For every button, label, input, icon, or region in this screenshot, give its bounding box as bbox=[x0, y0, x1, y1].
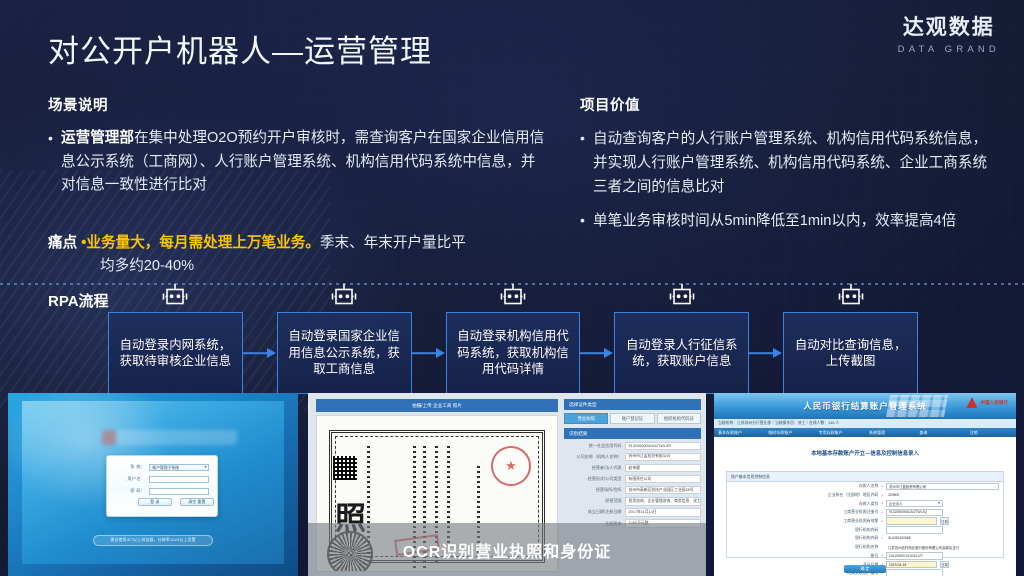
ocr-field-value[interactable]: 有限责任公司 bbox=[625, 475, 701, 484]
flow-node-3-label: 自动登录机构信用代码系统，获取机构信用代码详情 bbox=[446, 312, 581, 394]
pboc-logo: 中国人民银行 bbox=[966, 397, 1008, 408]
login-password-input[interactable] bbox=[149, 488, 208, 495]
login-desktop: 系 统： 帐户管理子系统 用户名： 密 码： 登 录 清空 重置 bbox=[22, 401, 284, 564]
login-row-username: 用户名： bbox=[116, 476, 209, 483]
pboc-form-row: 工商营业执照注册号*91320500MA1N2TWL3Q bbox=[727, 508, 1003, 517]
brand-logo-en: DATA GRAND bbox=[898, 44, 1000, 55]
ocr-field-value[interactable]: 赵伟健 bbox=[625, 464, 701, 473]
pboc-field-input[interactable]: 苏州市江蓝投资有限公司 bbox=[886, 483, 999, 491]
keyboard-graphic bbox=[886, 395, 948, 417]
ocr-field-value[interactable]: 91320000MA1N2TWL3R bbox=[625, 442, 701, 451]
pboc-emblem-icon bbox=[966, 397, 977, 408]
pain-point-line2: 均多约20-40% bbox=[100, 255, 568, 278]
login-username-input[interactable] bbox=[149, 476, 208, 483]
login-banner bbox=[116, 430, 237, 445]
pboc-field-input[interactable]: 91320500MA1N2TWL3Q bbox=[886, 509, 943, 517]
pboc-field-input[interactable] bbox=[886, 526, 943, 534]
scene-bullet-rest: 在集中处理O2O预约开户审核时，需查询客户在国家企业信用信息公示系统（工商网）、… bbox=[61, 130, 544, 193]
pboc-field-readonly: 320500 bbox=[886, 491, 999, 499]
flow-node-5[interactable]: 自动对比查询信息，上传截图 bbox=[783, 312, 918, 394]
pboc-form-row: 账号*10122900101001012T bbox=[727, 552, 1003, 561]
required-marker: * bbox=[881, 501, 883, 506]
flow-arrow-1 bbox=[243, 312, 277, 394]
ocr-field-row: 经营场所/住所苏州市高新区科技产业园区工业园28号 bbox=[564, 486, 701, 495]
flow-node-4[interactable]: 自动登录人行征信系统，获取账户信息 bbox=[614, 312, 749, 394]
official-seal-icon bbox=[491, 446, 531, 486]
ocr-topbar: 拍摄/上传 企业工商 照片 bbox=[316, 399, 558, 412]
login-label-password: 密 码： bbox=[116, 488, 146, 494]
required-marker: * bbox=[881, 553, 883, 558]
flow-node-2[interactable]: 自动登录国家企业信用信息公示系统，获取工商信息 bbox=[277, 312, 412, 394]
flow-node-1[interactable]: 自动登录内网系统，获取待审核企业信息 bbox=[108, 312, 243, 394]
slide-root: 达观数据 DATA GRAND 对公开户机器人—运营管理 场景说明 运营管理部在… bbox=[0, 0, 1024, 576]
ocr-field-label: 公司名称（机构人名称） bbox=[564, 454, 622, 460]
pboc-form-row: 存款人名称*苏州市江蓝投资有限公司 bbox=[727, 482, 1003, 491]
scene-heading: 场景说明 bbox=[48, 94, 548, 115]
required-marker: * bbox=[881, 510, 883, 515]
login-row-password: 密 码： bbox=[116, 488, 209, 495]
flow-node-5-label: 自动对比查询信息，上传截图 bbox=[783, 312, 918, 394]
pboc-statusbar: 当前机构：江苏苏州分行营业部｜当前操作员：苏工｜在线人数：146 人 bbox=[714, 419, 1016, 428]
scene-section: 场景说明 运营管理部在集中处理O2O预约开户审核时，需查询客户在国家企业信用信息… bbox=[48, 94, 548, 198]
robot-icon bbox=[498, 283, 528, 314]
required-marker: * bbox=[881, 484, 883, 489]
ocr-tab-license[interactable]: 营业执照 bbox=[564, 413, 608, 424]
scene-bullet: 运营管理部在集中处理O2O预约开户审核时，需查询客户在国家企业信用信息公示系统（… bbox=[48, 127, 548, 198]
login-footer-note: 建议使用IE7以上浏览器，分辨率1024以上设置 bbox=[93, 535, 214, 546]
ocr-tab-orgcode[interactable]: 组织机构代码证 bbox=[657, 413, 701, 424]
robot-icon bbox=[160, 283, 190, 314]
pboc-form-group-title: 账户基本信息控制信息 bbox=[727, 472, 1003, 482]
login-reset-button[interactable]: 清空 重置 bbox=[180, 498, 214, 506]
ocr-field-value[interactable]: 投资咨询、企业管理咨询、商务信息、化工产品无危险化学品、材料研发、五金交电 bbox=[625, 497, 701, 506]
pboc-form-row: 存款人类别*企业法人 bbox=[727, 499, 1003, 508]
pboc-submit-button[interactable]: 确 定 bbox=[844, 565, 886, 573]
pboc-bank-name: 中国人民银行 bbox=[980, 400, 1008, 406]
ocr-field-label: 经营者/法人代表 bbox=[564, 465, 622, 471]
login-dialog: 系 统： 帐户管理子系统 用户名： 密 码： 登 录 清空 重置 bbox=[106, 455, 219, 517]
flow-node-3[interactable]: 自动登录机构信用代码系统，获取机构信用代码详情 bbox=[446, 312, 581, 394]
pboc-form-row: 银行机构名称*江苏苏州农村商业银行股份有限公司高新区支行 bbox=[727, 543, 1003, 552]
pboc-nav-item[interactable]: 系统管理 bbox=[865, 428, 915, 437]
pboc-nav-item[interactable]: 基本存款账户 bbox=[714, 428, 764, 437]
flow-node-4-label: 自动登录人行征信系统，获取账户信息 bbox=[614, 312, 749, 394]
pain-point-highlight: •业务量大，每月需处理上万笔业务。 bbox=[81, 235, 320, 251]
login-label-system: 系 统： bbox=[116, 464, 146, 470]
login-system-value: 帐户管理子系统 bbox=[152, 466, 179, 471]
ocr-field-value[interactable]: 2017年11月14日 bbox=[625, 508, 701, 517]
ocr-field-row: 经营形式/公司类型有限责任公司 bbox=[564, 475, 701, 484]
pboc-nav-item[interactable]: 临时存款账户 bbox=[764, 428, 814, 437]
pboc-field-label: 工商营业执照有效期 bbox=[731, 518, 878, 524]
required-marker: * bbox=[881, 519, 883, 524]
pain-point-label: 痛点 bbox=[48, 235, 77, 251]
login-buttons: 登 录 清空 重置 bbox=[138, 498, 214, 506]
ocr-field-label: 经营范围 bbox=[564, 498, 622, 504]
pboc-body: 本地基本存款账户开立—信息及控制信息录入 账户基本信息控制信息 存款人名称*苏州… bbox=[714, 437, 1016, 576]
pain-point-rest: 季末、年末开户量比平 bbox=[320, 235, 466, 251]
ocr-panel-title: 选择证件类型 bbox=[564, 399, 701, 410]
robot-icon bbox=[836, 283, 866, 314]
ocr-field-label: 成立日期/注册日期 bbox=[564, 509, 622, 515]
ocr-result-title: 识别结果 bbox=[564, 428, 701, 439]
ocr-field-row: 统一社会信用代码91320000MA1N2TWL3R bbox=[564, 442, 701, 451]
login-label-username: 用户名： bbox=[116, 476, 146, 482]
pboc-header: 人民币银行结算账户管理系统 中国人民银行 bbox=[714, 393, 1016, 419]
pboc-form: 账户基本信息控制信息 存款人名称*苏州市江蓝投资有限公司 企业所在（注册地）地区… bbox=[726, 471, 1004, 558]
ocr-field-value[interactable]: 苏州市高新区科技产业园区工业园28号 bbox=[625, 486, 701, 495]
pboc-field-label: 账号 bbox=[731, 553, 878, 559]
pboc-field-label: 存款人名称 bbox=[731, 483, 878, 489]
qr-code-icon bbox=[333, 456, 357, 480]
robot-icon bbox=[667, 283, 697, 314]
pboc-field-date[interactable]: 2019-04-18 bbox=[886, 561, 937, 569]
pboc-field-input[interactable] bbox=[886, 569, 943, 576]
pboc-form-row: 企业所在（注册地）地区内码*320500 bbox=[727, 491, 1003, 500]
required-marker: * bbox=[881, 493, 883, 498]
screenshot-caption: OCR识别营业执照和身份证 bbox=[308, 523, 706, 576]
pboc-nav-item[interactable]: 注销 bbox=[966, 428, 1016, 437]
flow-node-2-label: 自动登录国家企业信用信息公示系统，获取工商信息 bbox=[277, 312, 412, 394]
required-marker: * bbox=[881, 536, 883, 541]
pboc-field-input[interactable]: 10122900101001012T bbox=[886, 552, 943, 560]
ocr-field-label: 经营形式/公司类型 bbox=[564, 476, 622, 482]
value-section: 项目价值 自动查询客户的人行账户管理系统、机构信用代码系统信息，并实现人行账户管… bbox=[580, 94, 1000, 233]
brand-logo-cn: 达观数据 bbox=[898, 16, 1000, 39]
value-bullet-1: 自动查询客户的人行账户管理系统、机构信用代码系统信息，并实现人行账户管理系统、机… bbox=[580, 127, 1000, 200]
screenshot-pboc-system: 人民币银行结算账户管理系统 中国人民银行 当前机构：江苏苏州分行营业部｜当前操作… bbox=[714, 393, 1016, 576]
calendar-icon[interactable]: 日期 bbox=[940, 517, 949, 525]
ocr-field-label: 统一社会信用代码 bbox=[564, 443, 622, 449]
ocr-field-value[interactable]: 苏州市江蓝投资有限公司 bbox=[625, 453, 701, 462]
login-system-select[interactable]: 帐户管理子系统 bbox=[149, 464, 208, 471]
page-title: 对公开户机器人—运营管理 bbox=[48, 26, 432, 71]
pboc-field-label: 企业所在（注册地）地区内码 bbox=[731, 492, 878, 498]
flow-arrow-2 bbox=[412, 312, 446, 394]
ocr-field-row: 经营范围投资咨询、企业管理咨询、商务信息、化工产品无危险化学品、材料研发、五金交… bbox=[564, 497, 701, 506]
pboc-field-label: 存款人类别 bbox=[731, 501, 878, 507]
brand-logo: 达观数据 DATA GRAND bbox=[898, 16, 1000, 55]
ocr-tabs: 营业执照 账户登记证 组织机构代码证 bbox=[564, 413, 701, 424]
ocr-field-row: 公司名称（机构人名称）苏州市江蓝投资有限公司 bbox=[564, 453, 701, 462]
ocr-tab-account[interactable]: 账户登记证 bbox=[610, 413, 654, 424]
pboc-form-title: 本地基本存款账户开立—信息及控制信息录入 bbox=[714, 449, 1016, 457]
pboc-nav-item[interactable]: 专用存款账户 bbox=[815, 428, 865, 437]
flow-arrow-4 bbox=[749, 312, 783, 394]
pboc-form-row: 银行机构内码* bbox=[727, 525, 1003, 534]
pboc-field-select[interactable]: 企业法人 bbox=[886, 500, 943, 508]
pboc-form-row: 工商营业执照有效期*日期 bbox=[727, 517, 1003, 526]
pboc-field-date[interactable] bbox=[886, 517, 937, 525]
pboc-navbar: 基本存款账户 临时存款账户 专用存款账户 系统管理 查询 注销 bbox=[714, 428, 1016, 437]
pboc-field-readonly: 314032300088 bbox=[886, 535, 999, 543]
pboc-nav-item[interactable]: 查询 bbox=[915, 428, 965, 437]
flow-arrow-3 bbox=[580, 312, 614, 394]
pboc-field-label: 银行机构名称 bbox=[731, 544, 878, 550]
login-row-system: 系 统： 帐户管理子系统 bbox=[116, 464, 209, 471]
ocr-field-row: 成立日期/注册日期2017年11月14日 bbox=[564, 508, 701, 517]
screenshot-login-system: 系 统： 帐户管理子系统 用户名： 密 码： 登 录 清空 重置 bbox=[8, 393, 298, 576]
login-submit-button[interactable]: 登 录 bbox=[138, 498, 172, 506]
ocr-field-row: 经营者/法人代表赵伟健 bbox=[564, 464, 701, 473]
pboc-field-label: 工商营业执照注册号 bbox=[731, 509, 878, 515]
pboc-form-row: 银行机构内码*314032300088 bbox=[727, 534, 1003, 543]
pain-point-section: 痛点 •业务量大，每月需处理上万笔业务。季末、年末开户量比平 均多约20-40% bbox=[48, 232, 568, 279]
value-bullet-2: 单笔业务审核时间从5min降低至1min以内，效率提高4倍 bbox=[580, 209, 1000, 233]
calendar-icon[interactable]: 日期 bbox=[940, 561, 949, 569]
ocr-field-label: 经营场所/住所 bbox=[564, 487, 622, 493]
scene-bullet-bold: 运营管理部 bbox=[61, 130, 134, 146]
robot-icon bbox=[329, 283, 359, 314]
value-heading: 项目价值 bbox=[580, 94, 1000, 115]
rpa-flow-diagram: 自动登录内网系统，获取待审核企业信息 自动登录国家企业信用信息公示系统，获取工商… bbox=[108, 312, 918, 394]
pboc-field-readonly: 江苏苏州农村商业银行股份有限公司高新区支行 bbox=[886, 543, 999, 551]
rpa-flow-label: RPA流程 bbox=[48, 290, 109, 311]
flow-node-1-label: 自动登录内网系统，获取待审核企业信息 bbox=[108, 312, 243, 394]
pboc-field-label: 银行机构内码 bbox=[731, 527, 878, 533]
pboc-field-label: 银行机构内码 bbox=[731, 535, 878, 541]
